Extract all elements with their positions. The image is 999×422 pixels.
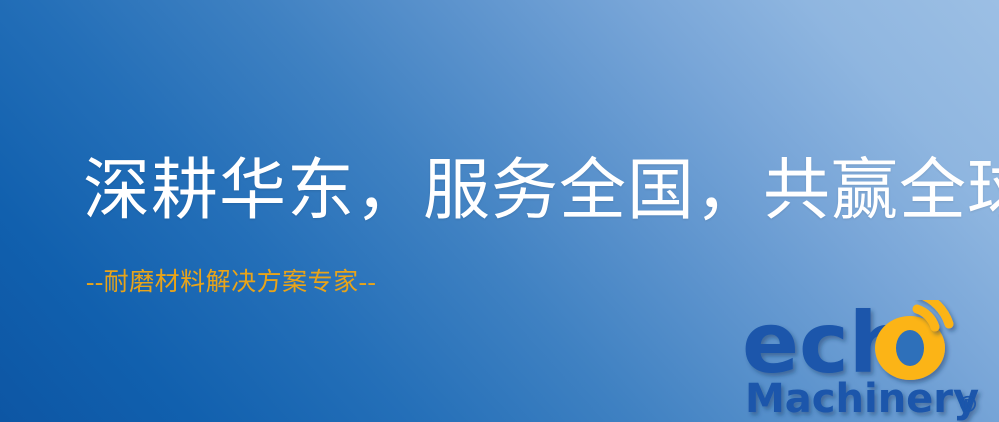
banner-subtitle: --耐磨材料解决方案专家-- bbox=[86, 266, 376, 300]
logo-tagline-text: Machinery bbox=[745, 376, 979, 422]
promo-banner: 深耕华东，服务全国，共赢全球 --耐磨材料解决方案专家-- ech bbox=[0, 0, 999, 422]
page-title: 深耕华东，服务全国，共赢全球 bbox=[83, 145, 943, 237]
logo-tagline: Machinery ® bbox=[745, 376, 979, 422]
echo-machinery-logo[interactable]: ech Machinery ® bbox=[742, 300, 999, 422]
registered-trademark-icon: ® bbox=[957, 393, 979, 418]
